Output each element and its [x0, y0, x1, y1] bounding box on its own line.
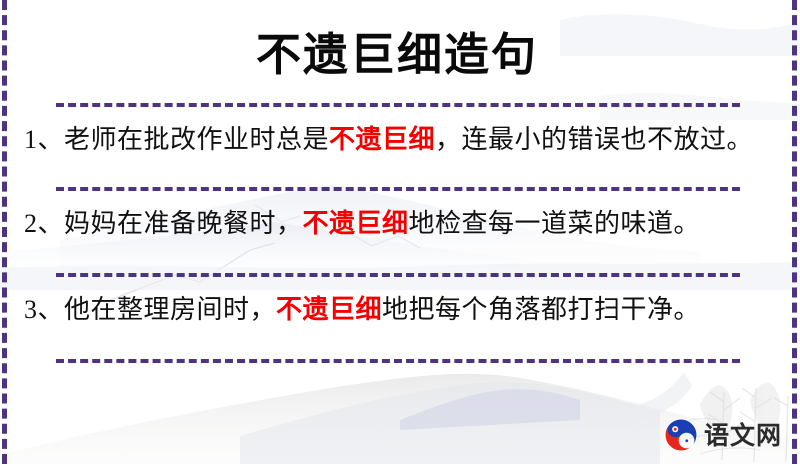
worksheet-page: 不遗巨细造句 1、老师在批改作业时总是不遗巨细，连最小的错误也不放过。 2、妈妈… — [0, 0, 800, 464]
sentence-2-highlight: 不遗巨细 — [303, 209, 409, 239]
sentence-1-highlight: 不遗巨细 — [329, 125, 435, 155]
sentence-item-1: 1、老师在批改作业时总是不遗巨细，连最小的错误也不放过。 — [18, 107, 776, 171]
sentence-3-number: 3、 — [24, 295, 64, 324]
site-logo[interactable]: 语文网 — [664, 418, 782, 452]
sentence-1-after: ，连最小的错误也不放过。 — [435, 125, 753, 154]
page-title: 不遗巨细造句 — [18, 0, 776, 81]
sentence-1-number: 1、 — [24, 125, 64, 154]
divider-bottom — [56, 359, 740, 363]
left-dashed-rail — [2, 0, 7, 464]
sentence-item-3: 3、他在整理房间时，不遗巨细地把每个角落都打扫干净。 — [18, 277, 776, 341]
sentence-2-before: 妈妈在准备晚餐时， — [64, 209, 303, 238]
right-dashed-rail — [792, 0, 797, 464]
site-logo-text: 语文网 — [704, 423, 782, 448]
worksheet-content: 不遗巨细造句 1、老师在批改作业时总是不遗巨细，连最小的错误也不放过。 2、妈妈… — [0, 0, 800, 464]
sentence-2-number: 2、 — [24, 209, 64, 238]
yinyang-fish-logo-icon — [664, 418, 698, 452]
sentence-2-after: 地检查每一道菜的味道。 — [409, 209, 701, 238]
sentence-3-highlight: 不遗巨细 — [276, 295, 382, 325]
sentence-3-before: 他在整理房间时， — [64, 295, 276, 324]
sentence-item-2: 2、妈妈在准备晚餐时，不遗巨细地检查每一道菜的味道。 — [18, 191, 776, 255]
sentence-3-after: 地把每个角落都打扫干净。 — [382, 295, 700, 324]
sentence-1-before: 老师在批改作业时总是 — [64, 125, 329, 154]
